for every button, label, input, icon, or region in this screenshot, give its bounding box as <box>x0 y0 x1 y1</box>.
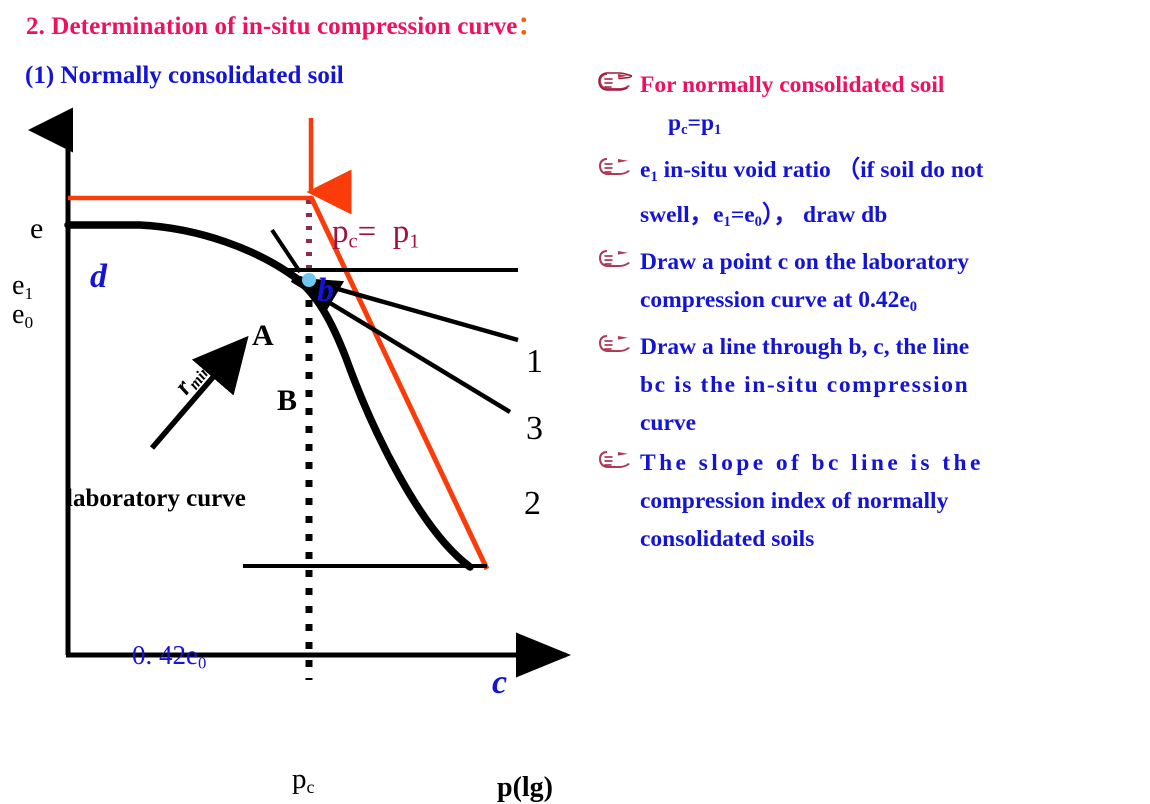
pointing-hand-icon <box>592 153 632 183</box>
page-title-text: 2. Determination of in-situ compression … <box>26 13 518 40</box>
bullet-2-line-2: swell，e1=e0）， draw db <box>640 196 1150 241</box>
construction-label-2: 2 <box>524 485 541 523</box>
construction-label-3: 3 <box>526 410 543 448</box>
y-tick-e0: e0 <box>12 299 33 333</box>
y-tick-042e0: 0. 42e0 <box>132 640 206 674</box>
page-title-colon: ： <box>518 13 543 40</box>
bullet-3-line-2: compression curve at 0.42e0 <box>640 281 1150 326</box>
y-axis-label: e <box>30 212 43 246</box>
point-label-c: c <box>492 664 507 702</box>
pointing-hand-icon <box>592 330 632 360</box>
bullet-item-3: Draw a point c on the laboratory compres… <box>592 243 1150 326</box>
point-label-b: b <box>317 272 334 310</box>
x-tick-pc: pc <box>292 763 314 798</box>
point-label-B: B <box>277 384 297 418</box>
laboratory-curve <box>68 225 470 567</box>
bullet-list: For normally consolidated soil pc=p1 e1 … <box>592 66 1150 560</box>
annotation-pc-eq-p1: pc= p1 <box>332 214 419 254</box>
page-title: 2. Determination of in-situ compression … <box>26 6 543 42</box>
x-axis-label: p(lg) <box>497 772 553 804</box>
pointing-hand-icon <box>592 245 632 275</box>
bullet-3-line-2-a: compression curve at 0.42e <box>640 287 910 313</box>
bullet-2-line-2-rest: ）， draw db <box>762 202 887 228</box>
bullet-item-1: For normally consolidated soil pc=p1 <box>592 66 1150 149</box>
bullet-3-line-2-sub: 0 <box>910 299 917 315</box>
slide-root: 2. Determination of in-situ compression … <box>0 0 1150 723</box>
annotation-laboratory-curve: laboratory curve <box>66 485 246 513</box>
bullet-5-line-2: compression index of normally <box>640 482 1150 520</box>
bullet-1-subline: pc=p1 <box>640 104 1150 149</box>
pointing-hand-icon <box>592 68 632 98</box>
bullet-4-line-1: Draw a line through b, c, the line <box>640 328 1150 366</box>
bullet-2-line-2-a: swell， <box>640 202 713 228</box>
construction-label-1: 1 <box>526 343 543 381</box>
bullet-item-2: e1 in-situ void ratio （if soil do not sw… <box>592 151 1150 241</box>
chart-svg <box>0 100 600 723</box>
point-label-A: A <box>252 319 274 353</box>
bullet-2-line-1: e1 in-situ void ratio （if soil do not <box>640 151 1150 196</box>
intersection-marker <box>302 273 316 287</box>
bullet-4-line-2: bc is the in-situ compression <box>640 366 1150 404</box>
section-subtitle: (1) Normally consolidated soil <box>25 62 344 90</box>
bullet-2-line-1-rest: in-situ void ratio （if soil do not <box>658 157 984 183</box>
compression-curve-diagram: e e1 e0 d b c pc= p1 A B rmin laboratory… <box>0 100 600 723</box>
pointing-hand-icon <box>592 446 632 476</box>
point-label-d: d <box>90 258 107 296</box>
bullet-3-line-1: Draw a point c on the laboratory <box>640 243 1150 281</box>
bullet-item-5: The slope of bc line is the compression … <box>592 444 1150 558</box>
bullet-5-line-3: consolidated soils <box>640 520 1150 558</box>
bullet-4-line-3: curve <box>640 404 1150 442</box>
bullet-1-line-1: For normally consolidated soil <box>640 66 1150 104</box>
bullet-item-4: Draw a line through b, c, the line bc is… <box>592 328 1150 442</box>
bullet-5-line-1: The slope of bc line is the <box>640 444 1150 482</box>
